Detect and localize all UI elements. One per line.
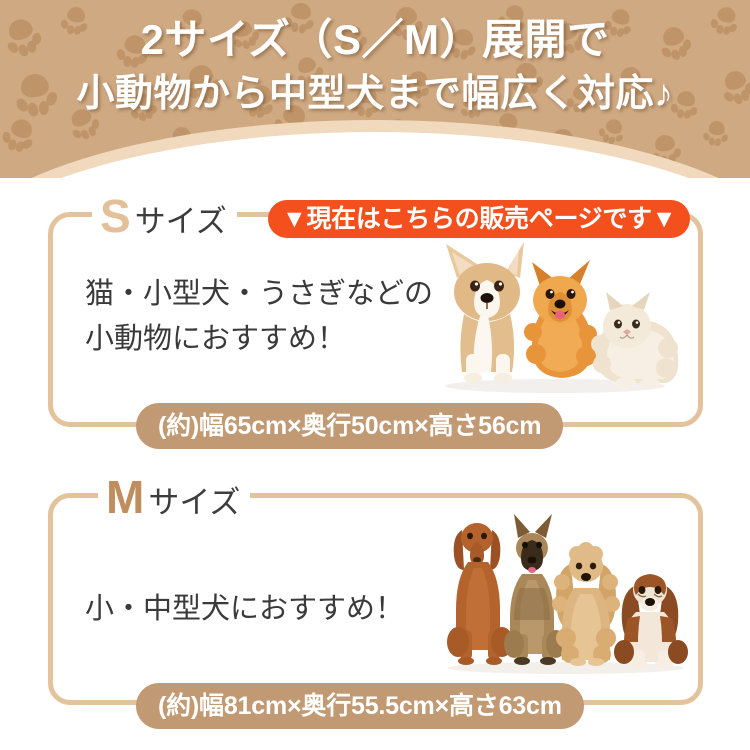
size-word-s: サイズ: [135, 202, 227, 242]
header-title-line1: 2サイズ（S／M）展開で: [0, 12, 750, 68]
paw-print-icon: [702, 118, 730, 149]
size-label-m: M サイズ: [98, 474, 250, 522]
size-description-s-line1: 猫・小型犬・うさぎなどの: [85, 272, 433, 317]
product-size-banner: 2サイズ（S／M）展開で 小動物から中型犬まで幅広く対応♪ S サイズ ▼現在は…: [0, 0, 750, 750]
header-title-line2: 小動物から中型犬まで幅広く対応♪: [0, 68, 750, 120]
dimensions-pill-s: (約)幅65cm×奥行50cm×高さ56cm: [136, 403, 563, 449]
size-description-s-line2: 小動物におすすめ！: [85, 317, 433, 362]
size-description-m: 小・中型犬におすすめ！: [85, 588, 404, 630]
size-word-m: サイズ: [148, 483, 240, 523]
size-letter-m: M: [106, 474, 144, 520]
size-description-s: 猫・小型犬・うさぎなどの 小動物におすすめ！: [85, 272, 433, 362]
size-description-m-line1: 小・中型犬におすすめ！: [85, 588, 404, 630]
paw-print-icon: [0, 114, 39, 157]
header-title-block: 2サイズ（S／M）展開で 小動物から中型犬まで幅広く対応♪: [0, 12, 750, 120]
size-label-s: S サイズ: [92, 193, 237, 241]
size-letter-s: S: [100, 193, 131, 239]
dogs-photo-medium: [434, 512, 698, 677]
dimensions-pill-m: (約)幅81cm×奥行55.5cm×高さ63cm: [136, 683, 584, 729]
current-page-badge[interactable]: ▼現在はこちらの販売ページです▼: [268, 200, 690, 238]
pets-photo-small: [420, 236, 690, 396]
